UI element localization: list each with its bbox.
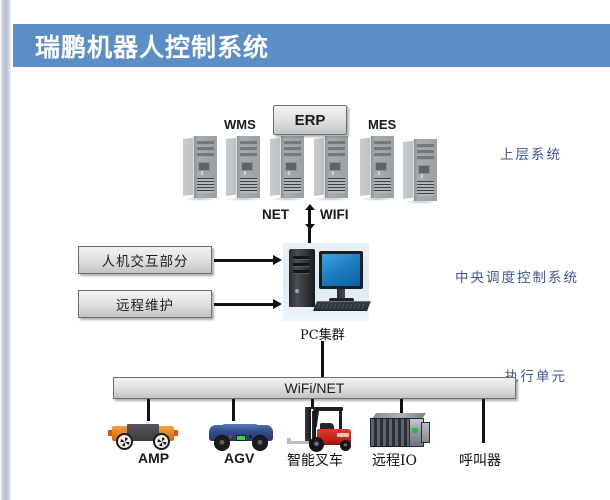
- drop-line-amp: [147, 399, 150, 421]
- keyboard-icon: [313, 301, 371, 311]
- server-tower-1: [183, 136, 217, 198]
- label-wifi-net: WiFi/NET: [285, 380, 345, 396]
- erp-box[interactable]: ERP: [273, 105, 347, 135]
- page-title: 瑞鹏机器人控制系统: [35, 28, 269, 64]
- label-remote-maintenance: 远程维护: [116, 294, 174, 314]
- label-net-uplink: NET: [262, 207, 289, 222]
- diagram-canvas: 瑞鹏机器人控制系统 上层系统 中央调度控制系统 执行单元: [0, 0, 610, 500]
- monitor-icon: [319, 251, 363, 289]
- remote-io-module-icon: [370, 413, 428, 447]
- label-hmi: 人机交互部分: [102, 250, 189, 270]
- uplink-double-arrow-icon: [304, 204, 315, 230]
- label-wifi-uplink: WIFI: [320, 207, 349, 222]
- label-agv: AGV: [224, 450, 254, 466]
- label-caller: 呼叫器: [459, 450, 501, 470]
- power-button-icon: [198, 162, 210, 171]
- pc-tower-icon: [289, 249, 315, 307]
- agv-vehicle-icon: [208, 424, 274, 451]
- pc-cluster-image: [283, 243, 369, 321]
- remote-maintenance-box[interactable]: 远程维护: [78, 290, 212, 318]
- wifi-net-bus-bar: WiFi/NET: [113, 377, 516, 399]
- server-tower-5-mes: [360, 136, 394, 198]
- label-amp: AMP: [138, 450, 169, 466]
- power-button-icon: [375, 162, 387, 171]
- power-button-icon: [418, 165, 430, 174]
- title-banner: 瑞鹏机器人控制系统: [13, 24, 610, 67]
- label-mes: MES: [368, 117, 396, 132]
- label-wms: WMS: [224, 117, 256, 132]
- server-tower-2-wms: [226, 136, 260, 198]
- arrow-hmi-to-pc: [214, 255, 282, 265]
- uplink-connector-line: [308, 228, 311, 244]
- pc-to-bus-connector: [321, 341, 324, 377]
- server-tower-4: [314, 136, 348, 198]
- smart-forklift-icon: [287, 407, 359, 453]
- left-edge-strip: [0, 0, 11, 500]
- power-button-icon: [285, 162, 297, 171]
- layer-label-central-control: 中央调度控制系统: [455, 266, 579, 286]
- drop-line-caller: [482, 399, 485, 443]
- drop-line-agv: [232, 399, 235, 421]
- server-tower-3-erp: [270, 136, 304, 198]
- amp-vehicle-icon: [108, 423, 178, 451]
- hmi-box[interactable]: 人机交互部分: [78, 246, 212, 274]
- arrow-remote-to-pc: [214, 299, 282, 309]
- tower-front-panel: [193, 136, 217, 198]
- drop-line-remote-io: [400, 399, 403, 413]
- layer-label-upper-system: 上层系统: [500, 143, 562, 163]
- label-smart-forklift: 智能叉车: [287, 450, 343, 470]
- server-tower-6: [403, 139, 437, 201]
- label-erp: ERP: [295, 112, 326, 129]
- power-button-icon: [241, 162, 253, 171]
- power-button-icon: [329, 162, 341, 171]
- label-remote-io: 远程IO: [372, 450, 417, 470]
